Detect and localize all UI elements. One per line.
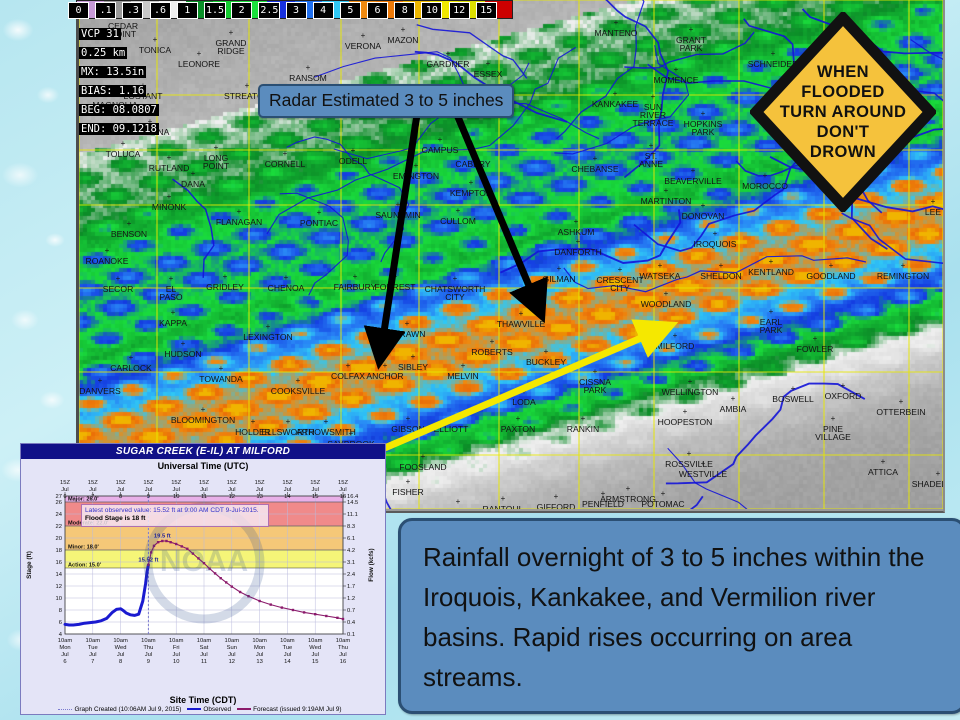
svg-text:+: + bbox=[223, 272, 228, 281]
svg-text:+: + bbox=[105, 246, 110, 255]
city-label: BEAVERVILLE bbox=[664, 176, 722, 186]
scale-tick-label: 10 bbox=[421, 2, 442, 19]
city-label: MELVIN bbox=[447, 371, 478, 381]
scale-tick-label: .6 bbox=[150, 2, 171, 19]
city-label: CITY bbox=[610, 283, 630, 293]
city-label: SAUNEMIN bbox=[375, 210, 420, 220]
svg-text:+: + bbox=[731, 394, 736, 403]
svg-text:NOAA: NOAA bbox=[160, 545, 248, 578]
y2-tick: 14.5 bbox=[347, 500, 358, 506]
y2-tick: 0.4 bbox=[347, 620, 356, 626]
hydrograph-title: SUGAR CREEK (E-IL) AT MILFORD bbox=[21, 444, 385, 459]
x-bottom-tick: Jul bbox=[200, 652, 207, 658]
svg-text:+: + bbox=[791, 384, 796, 393]
city-label: HUDSON bbox=[164, 349, 201, 359]
city-label: KANKAKEE bbox=[435, 507, 482, 509]
forecast-point bbox=[270, 603, 272, 605]
svg-text:+: + bbox=[127, 219, 132, 228]
svg-text:+: + bbox=[411, 352, 416, 361]
y2-tick: 8.3 bbox=[347, 524, 355, 530]
radar-estimate-callout: Radar Estimated 3 to 5 inches bbox=[258, 84, 514, 118]
x-top-tick: 15Z bbox=[227, 480, 237, 486]
summary-text-box: Rainfall overnight of 3 to 5 inches with… bbox=[398, 518, 960, 714]
x-bottom-tick: 10am bbox=[336, 638, 351, 644]
svg-text:+: + bbox=[284, 273, 289, 282]
svg-text:+: + bbox=[449, 414, 454, 423]
scale-tick-label: 2.5 bbox=[258, 2, 280, 19]
x-top-tick: 15Z bbox=[171, 480, 181, 486]
svg-text:+: + bbox=[191, 169, 196, 178]
y2-tick: 2.4 bbox=[347, 572, 356, 578]
scale-tick-label: .3 bbox=[122, 2, 143, 19]
svg-text:+: + bbox=[769, 307, 774, 316]
city-label: MANTENO bbox=[595, 28, 638, 38]
x-bottom-tick: Jul bbox=[256, 652, 263, 658]
svg-text:+: + bbox=[701, 201, 706, 210]
city-label: FORREST bbox=[374, 282, 416, 292]
x-bottom-tick: Thu bbox=[143, 645, 153, 651]
x-bottom-tick: 10am bbox=[225, 638, 240, 644]
y-tick: 20 bbox=[56, 536, 62, 542]
svg-text:+: + bbox=[171, 308, 176, 317]
y2-tick: 1.2 bbox=[347, 596, 355, 602]
scale-tick-label: 3 bbox=[286, 2, 307, 19]
svg-text:+: + bbox=[613, 89, 618, 98]
svg-text:+: + bbox=[661, 489, 666, 498]
city-label: RANTOUL bbox=[483, 504, 524, 509]
city-label: STRAWN bbox=[389, 329, 426, 339]
city-label: DANFORTH bbox=[554, 247, 602, 257]
svg-text:+: + bbox=[361, 31, 366, 40]
svg-text:+: + bbox=[401, 25, 406, 34]
legend-item-graph-created: Graph Created (10:06AM Jul 9, 2015) bbox=[58, 706, 181, 713]
x-top-tick: 15Z bbox=[199, 480, 209, 486]
city-label: FOOSLAND bbox=[399, 462, 446, 472]
svg-text:+: + bbox=[688, 377, 693, 386]
svg-text:+: + bbox=[245, 81, 250, 90]
svg-text:+: + bbox=[519, 309, 524, 318]
scale-tick-label: 4 bbox=[313, 2, 334, 19]
city-label: CHEBANSE bbox=[571, 164, 619, 174]
x-bottom-tick: 10am bbox=[141, 638, 156, 644]
forecast-point bbox=[281, 606, 283, 608]
svg-text:+: + bbox=[167, 153, 172, 162]
forecast-point bbox=[342, 618, 344, 620]
latest-observed-note: Latest observed value: 15.52 ft at 9:00 … bbox=[81, 504, 269, 527]
svg-text:+: + bbox=[116, 274, 121, 283]
city-label: ROBERTS bbox=[471, 347, 513, 357]
svg-text:+: + bbox=[324, 417, 329, 426]
svg-text:+: + bbox=[701, 109, 706, 118]
x-bottom-tick: Jul bbox=[89, 652, 96, 658]
svg-text:+: + bbox=[651, 92, 656, 101]
turn-around-dont-drown-sign: WHENFLOODEDTURN AROUNDDON'TDROWN bbox=[750, 12, 936, 212]
city-label: POTOMAC bbox=[641, 499, 684, 509]
radar-max: MX: 13.5in bbox=[79, 66, 146, 78]
city-label: PONTIAC bbox=[300, 218, 338, 228]
city-label: ANNE bbox=[639, 159, 663, 169]
city-label: MARTINTON bbox=[641, 196, 692, 206]
svg-text:+: + bbox=[829, 261, 834, 270]
x-bottom-tick: 7 bbox=[91, 659, 94, 665]
legend-swatch-graph-created bbox=[58, 709, 72, 710]
y-tick: 14 bbox=[56, 572, 63, 578]
y-tick: 10 bbox=[56, 596, 62, 602]
scale-tick-label: 12 bbox=[449, 2, 470, 19]
svg-text:+: + bbox=[181, 339, 186, 348]
city-label: SHADELAND bbox=[912, 479, 943, 489]
city-label: ANCHOR bbox=[366, 371, 403, 381]
city-label: CULLOM bbox=[440, 216, 476, 226]
svg-text:+: + bbox=[501, 494, 506, 503]
x-bottom-tick: Jul bbox=[228, 652, 235, 658]
city-label: TOWANDA bbox=[199, 374, 243, 384]
svg-text:+: + bbox=[593, 154, 598, 163]
svg-text:+: + bbox=[405, 319, 410, 328]
x-top-tick: 15Z bbox=[310, 480, 320, 486]
city-label: PAXTON bbox=[501, 424, 536, 434]
x-bottom-tick: Jul bbox=[339, 652, 346, 658]
svg-text:+: + bbox=[689, 25, 694, 34]
city-label: SIBLEY bbox=[398, 362, 428, 372]
y2-tick: 1.7 bbox=[347, 584, 355, 590]
x-bottom-tick: 15 bbox=[312, 659, 318, 665]
forecast-point bbox=[314, 613, 316, 615]
x-bottom-tick: 10am bbox=[86, 638, 101, 644]
svg-text:+: + bbox=[664, 289, 669, 298]
city-label: ASHKUM bbox=[558, 227, 595, 237]
svg-text:+: + bbox=[197, 49, 202, 58]
forecast-point bbox=[161, 540, 163, 542]
y-tick: 8 bbox=[59, 608, 62, 614]
x-bottom-tick: Jul bbox=[172, 652, 179, 658]
svg-text:+: + bbox=[237, 207, 242, 216]
city-label: GOODLAND bbox=[806, 271, 855, 281]
city-label: OTTERBEIN bbox=[876, 407, 925, 417]
scale-tick-label: .1 bbox=[95, 2, 116, 19]
scale-tick-label: 8 bbox=[394, 2, 415, 19]
hydrograph-top-axis-label: Universal Time (UTC) bbox=[21, 461, 385, 471]
threshold-label-Major: Major: 26.0' bbox=[68, 497, 99, 503]
city-label: DANA bbox=[181, 179, 205, 189]
city-label: ELLIOTT bbox=[434, 424, 470, 434]
city-label: GRIDLEY bbox=[206, 282, 244, 292]
city-label: CABERY bbox=[455, 159, 490, 169]
x-bottom-tick: 10am bbox=[113, 638, 128, 644]
svg-text:+: + bbox=[169, 274, 174, 283]
svg-text:+: + bbox=[406, 477, 411, 486]
city-label: REMINGTON bbox=[877, 271, 929, 281]
scale-tick-label: 15 bbox=[476, 2, 497, 19]
svg-text:+: + bbox=[557, 264, 562, 273]
svg-text:+: + bbox=[461, 361, 466, 370]
svg-text:+: + bbox=[719, 261, 724, 270]
x-bottom-tick: 6 bbox=[63, 659, 66, 665]
city-label: GARDNER bbox=[427, 59, 470, 69]
scale-tick-label: 2 bbox=[231, 2, 252, 19]
svg-text:+: + bbox=[574, 217, 579, 226]
city-label: MINONK bbox=[152, 202, 187, 212]
city-label: BOSWELL bbox=[772, 394, 814, 404]
x-bottom-tick: 10am bbox=[308, 638, 323, 644]
threshold-label-Action: Action: 15.0' bbox=[68, 563, 102, 569]
city-label: TERRACE bbox=[632, 118, 673, 128]
radar-begin: BEG: 08.0807 bbox=[79, 104, 159, 116]
svg-text:+: + bbox=[438, 135, 443, 144]
city-label: FISHER bbox=[392, 487, 424, 497]
scale-tick-label: 6 bbox=[367, 2, 388, 19]
y-tick: 26 bbox=[56, 500, 62, 506]
svg-text:+: + bbox=[471, 149, 476, 158]
city-label: COLFAX bbox=[331, 371, 365, 381]
forecast-point bbox=[325, 615, 327, 617]
svg-text:+: + bbox=[414, 161, 419, 170]
x-bottom-tick: Mon bbox=[254, 645, 265, 651]
svg-text:+: + bbox=[486, 59, 491, 68]
svg-text:+: + bbox=[421, 452, 426, 461]
svg-text:+: + bbox=[614, 18, 619, 27]
x-top-tick: 14 bbox=[284, 494, 291, 500]
y2-tick: 6.1 bbox=[347, 536, 355, 542]
svg-text:+: + bbox=[351, 146, 356, 155]
city-label: ODELL bbox=[339, 156, 367, 166]
svg-text:+: + bbox=[691, 166, 696, 175]
x-bottom-tick: Fri bbox=[173, 645, 180, 651]
svg-text:+: + bbox=[658, 261, 663, 270]
radar-vcp: VCP 31 bbox=[79, 28, 121, 40]
svg-text:+: + bbox=[522, 387, 527, 396]
x-bottom-tick: Sun bbox=[227, 645, 237, 651]
x-bottom-tick: 8 bbox=[119, 659, 122, 665]
x-bottom-tick: Jul bbox=[145, 652, 152, 658]
city-label: THAWVILLE bbox=[497, 319, 546, 329]
svg-text:+: + bbox=[129, 353, 134, 362]
city-label: FAIRBURY bbox=[334, 282, 377, 292]
hydrograph-legend: Graph Created (10:06AM Jul 9, 2015)Obser… bbox=[21, 706, 385, 713]
city-label: OXFORD bbox=[825, 391, 862, 401]
forecast-point bbox=[169, 541, 171, 543]
city-label: TOLUCA bbox=[106, 149, 141, 159]
city-label: RANSOM bbox=[289, 73, 327, 83]
legend-item-forecast: Forecast (issued 9:19AM Jul 9) bbox=[237, 706, 341, 713]
svg-text:+: + bbox=[664, 186, 669, 195]
svg-text:+: + bbox=[769, 257, 774, 266]
forecast-point bbox=[239, 591, 241, 593]
x-bottom-tick: Wed bbox=[115, 645, 127, 651]
x-bottom-tick: Thu bbox=[338, 645, 348, 651]
svg-text:+: + bbox=[469, 178, 474, 187]
svg-text:+: + bbox=[456, 206, 461, 215]
x-bottom-tick: Tue bbox=[88, 645, 98, 651]
svg-text:+: + bbox=[121, 139, 126, 148]
city-label: CITY bbox=[445, 292, 465, 302]
svg-text:+: + bbox=[881, 457, 886, 466]
svg-text:+: + bbox=[490, 337, 495, 346]
x-top-tick: 15Z bbox=[88, 480, 98, 486]
svg-text:+: + bbox=[167, 192, 172, 201]
radar-resolution: 0.25 km bbox=[79, 47, 127, 59]
city-label: MOMENCE bbox=[654, 75, 699, 85]
city-label: CORNELL bbox=[265, 159, 306, 169]
scale-tick-label: 0 bbox=[68, 2, 89, 19]
y2-tick: 11.1 bbox=[347, 512, 358, 518]
city-label: ESSEX bbox=[474, 69, 503, 79]
city-label: PARK bbox=[692, 127, 715, 137]
city-label: FOWLER bbox=[797, 344, 834, 354]
x-bottom-tick: Tue bbox=[283, 645, 293, 651]
city-label: CHENOA bbox=[268, 283, 305, 293]
city-label: BUCKLEY bbox=[526, 357, 566, 367]
city-label: KANKAKEE bbox=[592, 99, 639, 109]
x-bottom-tick: 10am bbox=[197, 638, 212, 644]
svg-text:+: + bbox=[383, 361, 388, 370]
city-label: PARK bbox=[760, 325, 783, 335]
svg-text:+: + bbox=[831, 414, 836, 423]
city-label: RIDGE bbox=[217, 46, 244, 56]
city-label: ATTICA bbox=[868, 467, 898, 477]
city-label: RUTLAND bbox=[149, 163, 190, 173]
city-label: PARK bbox=[680, 43, 703, 53]
svg-text:+: + bbox=[317, 208, 322, 217]
svg-text:+: + bbox=[396, 200, 401, 209]
x-bottom-tick: 9 bbox=[147, 659, 150, 665]
observed-note-line1: Latest observed value: 15.52 ft at 9:00 … bbox=[85, 507, 209, 514]
legend-swatch-observed bbox=[187, 708, 201, 710]
x-bottom-tick: 10am bbox=[280, 638, 295, 644]
city-label: GILMAN bbox=[543, 274, 576, 284]
legend-label-observed: Observed bbox=[203, 706, 231, 713]
scale-tick-label: 1 bbox=[177, 2, 198, 19]
city-label: MAZON bbox=[387, 35, 418, 45]
svg-text:+: + bbox=[936, 469, 941, 478]
city-label: ROANOKE bbox=[86, 256, 129, 266]
city-label: PARK bbox=[584, 385, 607, 395]
city-label: WESTVILLE bbox=[679, 469, 728, 479]
forecast-point bbox=[292, 609, 294, 611]
svg-text:+: + bbox=[453, 274, 458, 283]
city-label: DANVERS bbox=[79, 386, 121, 396]
forecast-point bbox=[225, 581, 227, 583]
svg-text:+: + bbox=[626, 484, 631, 493]
x-bottom-tick: 10am bbox=[58, 638, 73, 644]
city-label: LEONORE bbox=[178, 59, 220, 69]
svg-text:+: + bbox=[899, 397, 904, 406]
x-top-tick: 15Z bbox=[255, 480, 265, 486]
svg-text:+: + bbox=[841, 381, 846, 390]
city-label: VERONA bbox=[345, 41, 382, 51]
svg-text:+: + bbox=[266, 322, 271, 331]
scale-tick-label: 1.5 bbox=[204, 2, 226, 19]
city-label: KAPPA bbox=[159, 318, 187, 328]
hydrograph-panel[interactable]: SUGAR CREEK (E-IL) AT MILFORD Universal … bbox=[20, 443, 386, 715]
svg-text:+: + bbox=[683, 407, 688, 416]
city-label: ARROWSMITH bbox=[296, 427, 356, 437]
y-tick: 18 bbox=[56, 548, 62, 554]
diamond-sign-shape bbox=[750, 12, 936, 212]
city-label: AMBIA bbox=[720, 404, 747, 414]
hydrograph-plot-area: Major: 26.0'Moderate: 22.0'Minor: 18.0'A… bbox=[21, 471, 385, 703]
city-label: DONOVAN bbox=[682, 211, 725, 221]
svg-text:+: + bbox=[353, 272, 358, 281]
radar-bias: BIAS: 1.16 bbox=[79, 85, 146, 97]
forecast-point bbox=[336, 617, 338, 619]
svg-text:+: + bbox=[674, 65, 679, 74]
city-label: LEXINGTON bbox=[243, 332, 293, 342]
x-top-tick: 15Z bbox=[143, 480, 153, 486]
svg-text:+: + bbox=[406, 414, 411, 423]
x-bottom-tick: 12 bbox=[229, 659, 235, 665]
observed-note-line2: CDT 9-Jul-2015. bbox=[210, 507, 258, 514]
city-label: WOODLAND bbox=[641, 299, 692, 309]
city-label: RANKIN bbox=[567, 424, 599, 434]
svg-text:+: + bbox=[593, 367, 598, 376]
hydrograph-bottom-axis-label: Site Time (CDT) bbox=[21, 695, 385, 705]
x-bottom-tick: Jul bbox=[117, 652, 124, 658]
svg-text:+: + bbox=[286, 417, 291, 426]
threshold-label-Minor: Minor: 18.0' bbox=[68, 545, 100, 551]
x-bottom-tick: 13 bbox=[256, 659, 262, 665]
city-label: SECOR bbox=[103, 284, 134, 294]
flood-stage-note: Flood Stage is 18 ft bbox=[85, 515, 145, 522]
x-top-tick: 15Z bbox=[282, 480, 292, 486]
svg-text:+: + bbox=[673, 331, 678, 340]
x-bottom-tick: 10 bbox=[173, 659, 179, 665]
x-bottom-tick: 10am bbox=[252, 638, 267, 644]
city-label: CARLOCK bbox=[110, 363, 152, 373]
precipitation-color-scale: 0.1.3.611.522.534568101215 bbox=[76, 0, 513, 19]
x-bottom-tick: 16 bbox=[340, 659, 346, 665]
city-label: BENSON bbox=[111, 229, 147, 239]
svg-text:+: + bbox=[446, 49, 451, 58]
forecast-point bbox=[303, 611, 305, 613]
city-label: EMINGTON bbox=[393, 171, 439, 181]
svg-text:+: + bbox=[713, 229, 718, 238]
scale-segment-15: 15 bbox=[485, 1, 512, 18]
x-bottom-tick: Jul bbox=[311, 652, 318, 658]
forecast-point bbox=[165, 540, 167, 542]
y-tick: 6 bbox=[59, 620, 62, 626]
y-tick: 24 bbox=[56, 512, 63, 518]
city-label: CAMPUS bbox=[422, 145, 459, 155]
svg-text:+: + bbox=[516, 414, 521, 423]
city-label: FLANAGAN bbox=[216, 217, 262, 227]
forecast-point bbox=[157, 541, 159, 543]
y2-tick: 3.1 bbox=[347, 560, 355, 566]
y2-axis-title: Flow (kcfs) bbox=[368, 548, 375, 581]
city-label: VILLAGE bbox=[815, 432, 851, 442]
y-tick: 22 bbox=[56, 524, 62, 530]
svg-text:+: + bbox=[576, 237, 581, 246]
city-label: ROSSVILLE bbox=[665, 459, 713, 469]
city-label: KEMPTON bbox=[450, 188, 492, 198]
svg-text:+: + bbox=[296, 376, 301, 385]
x-bottom-tick: Mon bbox=[59, 645, 70, 651]
x-bottom-tick: 10am bbox=[169, 638, 184, 644]
svg-text:+: + bbox=[554, 492, 559, 501]
svg-text:+: + bbox=[251, 417, 256, 426]
svg-text:+: + bbox=[687, 449, 692, 458]
svg-text:+: + bbox=[701, 459, 706, 468]
svg-text:+: + bbox=[229, 28, 234, 37]
svg-text:+: + bbox=[544, 347, 549, 356]
scale-tick-label: 5 bbox=[340, 2, 361, 19]
svg-text:+: + bbox=[283, 149, 288, 158]
forecast-point bbox=[231, 585, 233, 587]
city-label: BLOOMINGTON bbox=[171, 415, 235, 425]
svg-text:+: + bbox=[456, 497, 461, 506]
svg-text:+: + bbox=[813, 334, 818, 343]
svg-text:+: + bbox=[649, 141, 654, 150]
